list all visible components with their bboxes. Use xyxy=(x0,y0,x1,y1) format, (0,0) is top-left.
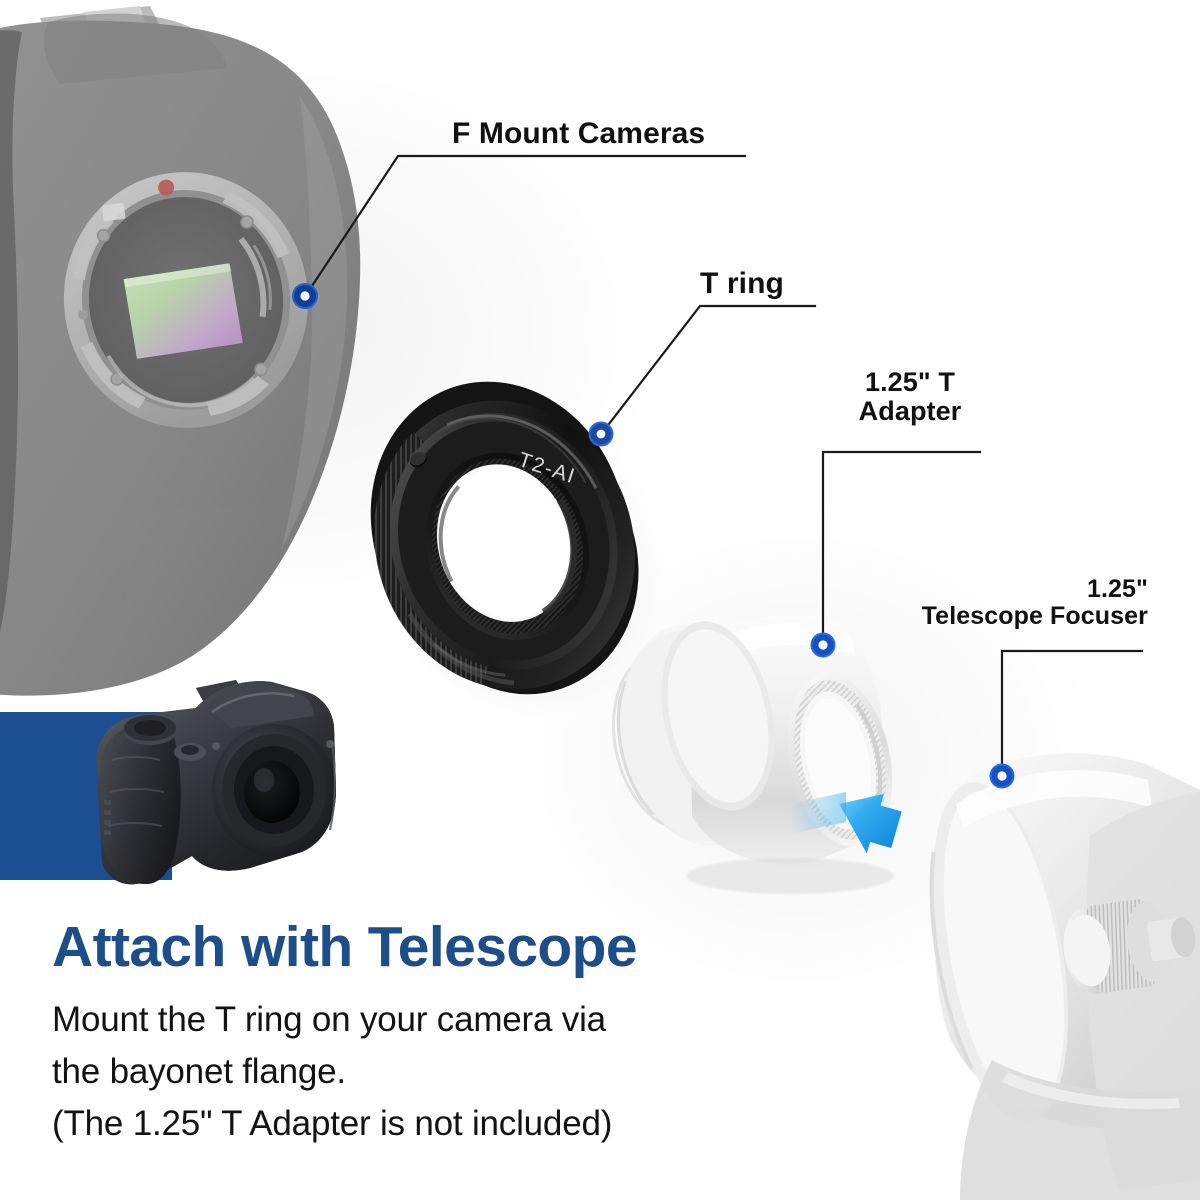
body-text-line-3: (The 1.25" T Adapter is not included) xyxy=(52,1104,612,1144)
page-headline: Attach with Telescope xyxy=(52,914,637,980)
ghost-camera-body xyxy=(0,6,360,696)
callout-label-telescope-focuser: 1.25" Telescope Focuser xyxy=(900,576,1148,630)
callout-label-t-adapter: 1.25" T Adapter xyxy=(842,368,978,426)
telescope-focuser-product xyxy=(909,753,1200,1200)
callout-dot-icon-telescope-focuser xyxy=(991,765,1014,788)
callout-dot-icon-t-adapter xyxy=(812,634,835,657)
accent-band xyxy=(0,712,172,880)
callout-label-t-ring: T ring xyxy=(700,268,784,300)
body-text-line-1: Mount the T ring on your camera via xyxy=(52,1000,606,1040)
callout-dot-icon-f-mount xyxy=(293,284,317,308)
body-text-line-2: the bayonet flange. xyxy=(52,1052,346,1092)
callout-label-f-mount-cameras: F Mount Cameras xyxy=(452,118,705,150)
callout-dot-icon-t-ring xyxy=(590,423,613,446)
infographic-canvas: T2-AI xyxy=(0,0,1200,1200)
t-adapter-product xyxy=(593,609,907,894)
